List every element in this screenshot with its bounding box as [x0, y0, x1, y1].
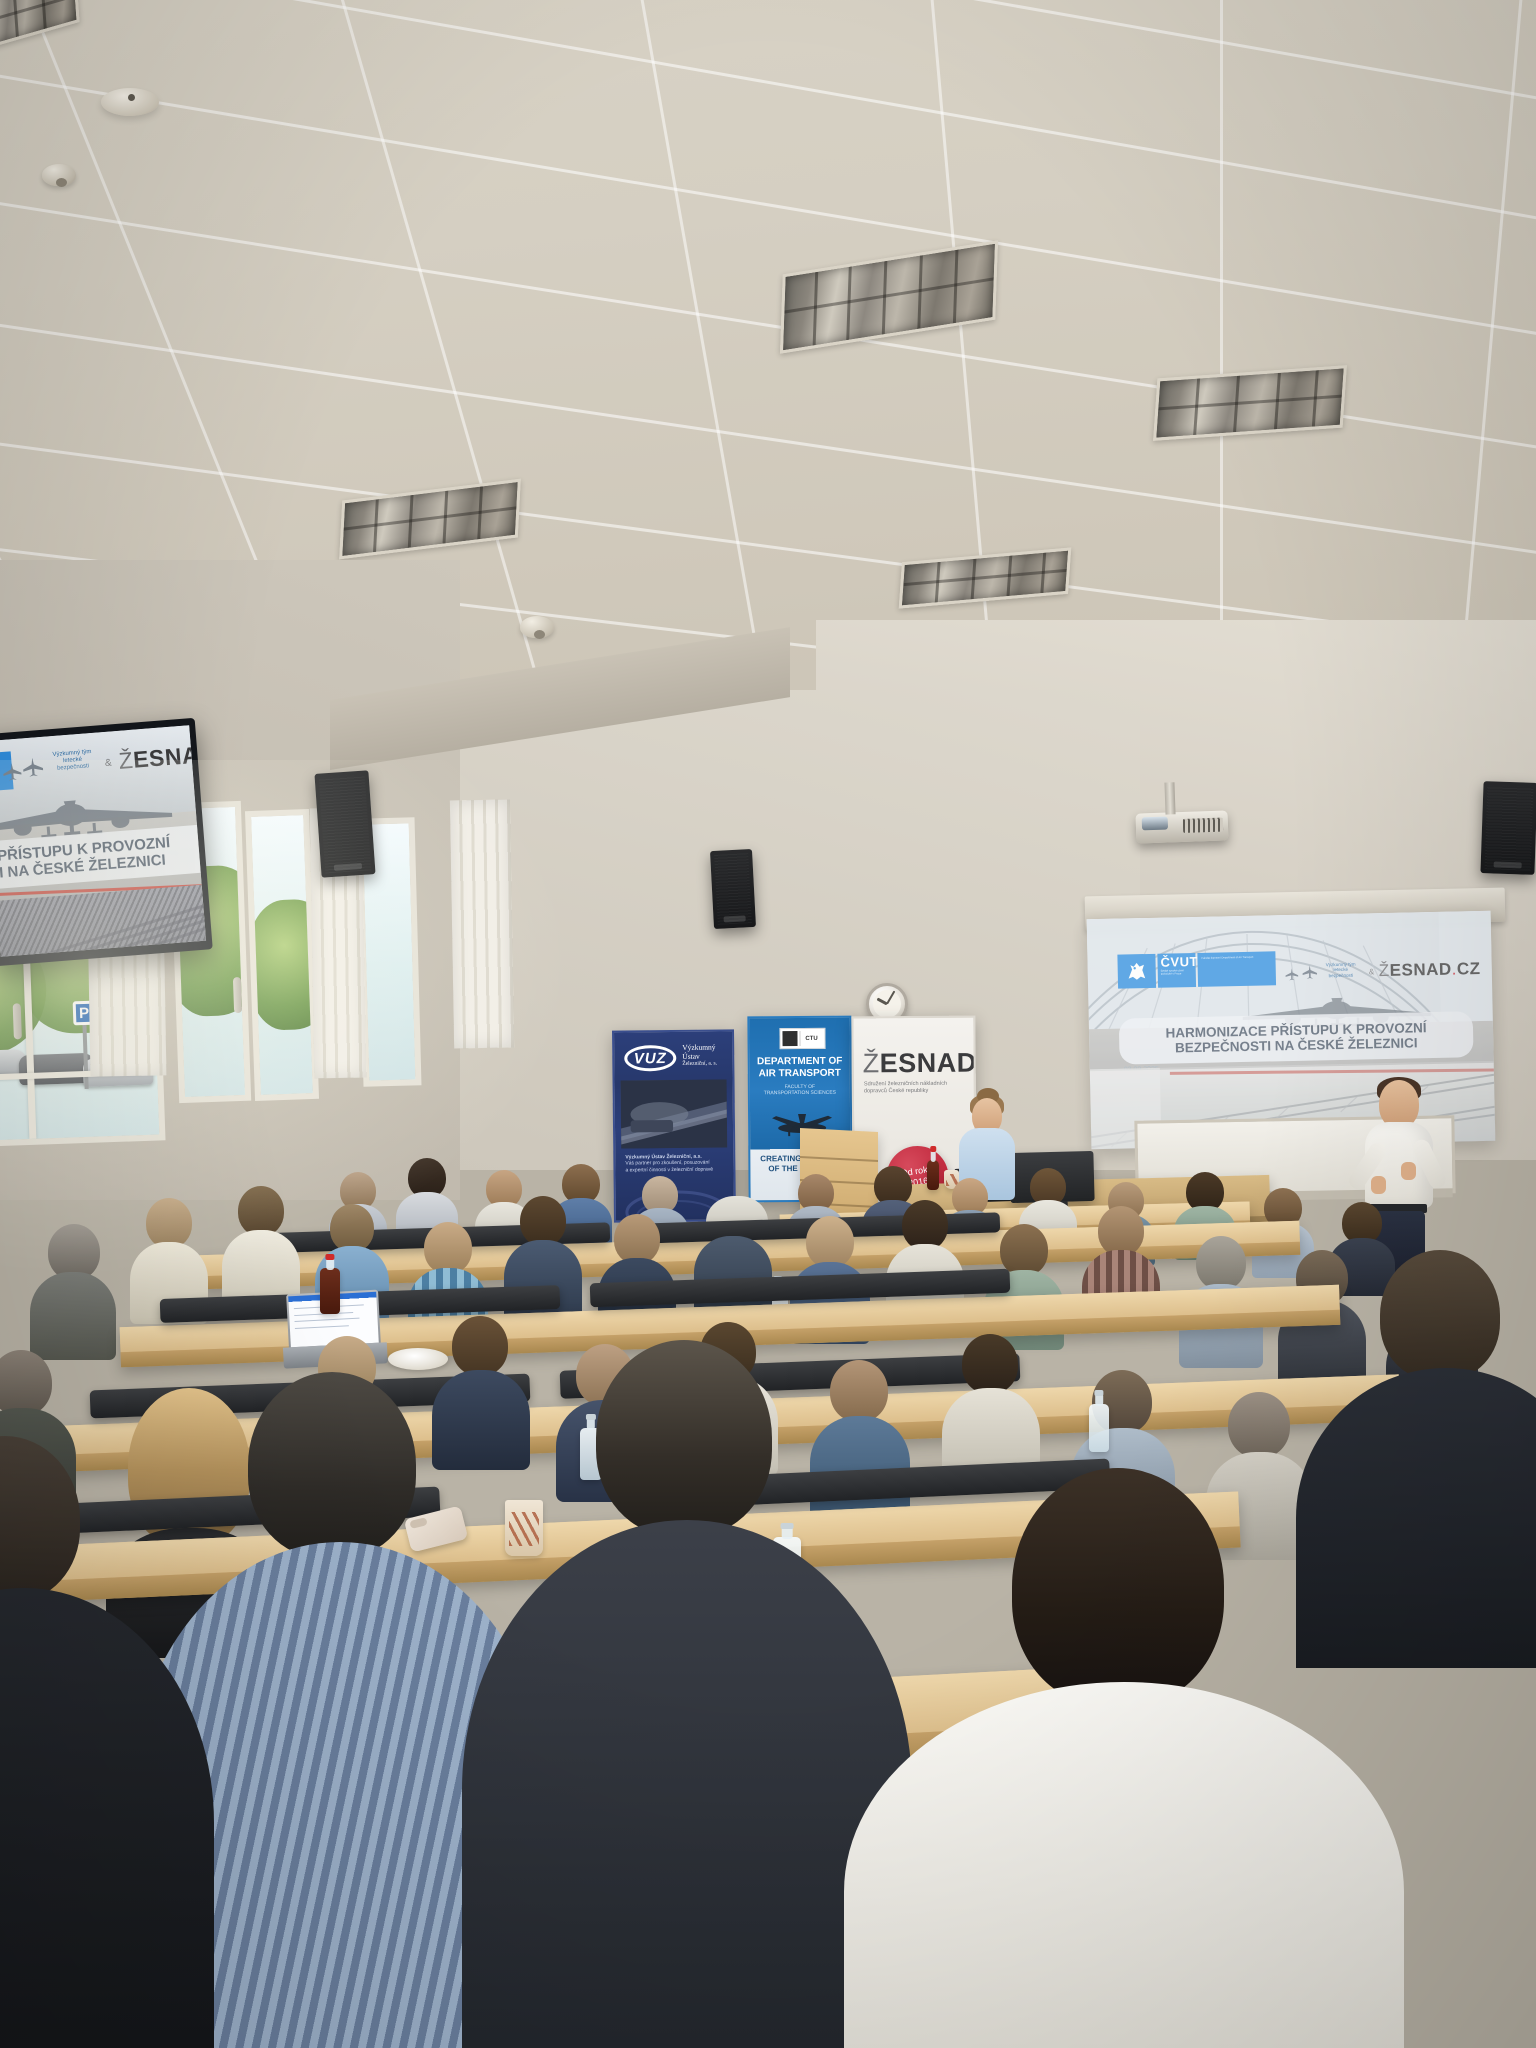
cvut-wordmark: ČVUT [1160, 955, 1192, 969]
zesnad-banner-esnad: ESNAD [880, 1048, 977, 1079]
zesnad-z: Ž [1379, 961, 1390, 980]
zesnad-esnad: ESNAD [1389, 960, 1451, 980]
phone-camera-icon [409, 1517, 428, 1529]
slide-title-band: HARMONIZACE PŘÍSTUPU K PROVOZNÍ BEZPEČNO… [1119, 1011, 1474, 1064]
vertical-blinds-far-right [450, 799, 514, 1048]
zesnad-subtitle: Sdružení železničních nákladních dopravc… [864, 1081, 968, 1096]
research-team-label: Výzkumný tým letecké bezpečnosti [1318, 961, 1364, 978]
lecture-hall-photo: P [0, 0, 1536, 2048]
cvut-lion-logo [1117, 954, 1156, 989]
vuz-name-line-3: Železniční, a. s. [682, 1061, 717, 1068]
water-bottle [1089, 1404, 1109, 1452]
sprinkler-head-icon [520, 616, 554, 638]
wall-mounted-tv: Výzkumný tým letecké bezpečnosti & ŽESNA… [0, 718, 213, 966]
small-airplane-icon [1302, 963, 1318, 979]
lion-icon [1123, 959, 1149, 984]
small-airplane-icon [1, 761, 23, 783]
tv-slide: Výzkumný tým letecké bezpečnosti & ŽESNA… [0, 725, 206, 956]
smoke-detector-icon [101, 88, 159, 116]
small-airplane-icon [1285, 967, 1299, 981]
wall-speaker-center [710, 849, 756, 929]
team-line-3: bezpečnosti [1318, 972, 1364, 978]
ceiling-projector [1136, 810, 1229, 843]
presenter-head [1379, 1080, 1419, 1128]
vuz-logo: VUZ [624, 1045, 676, 1072]
window-center-b [245, 809, 319, 1101]
ctu-wordmark: CTU [799, 1031, 822, 1046]
ampersand-label: & [104, 757, 112, 768]
wall-speaker-right [1480, 781, 1536, 875]
air-transport-subtitle: FACULTY OF TRANSPORTATION SCIENCES [754, 1084, 846, 1097]
dat-sub-line-2: TRANSPORTATION SCIENCES [754, 1090, 846, 1097]
projector-lens-icon [1142, 816, 1168, 830]
projector-vents-icon [1183, 818, 1223, 833]
zesnad-cz: CZ [1457, 959, 1481, 978]
lion-icon [782, 1031, 797, 1046]
vuz-name: Výzkumný Ústav Železniční, a. s. [682, 1044, 717, 1068]
dat-title-line-2: AIR TRANSPORT [754, 1067, 846, 1079]
small-airplane-icon [21, 755, 45, 779]
paper-coffee-cup [505, 1500, 543, 1556]
air-transport-title: DEPARTMENT OF AIR TRANSPORT [754, 1056, 846, 1080]
wall-speaker-left [314, 770, 375, 878]
zesnad-esnad: ESNAD [132, 740, 206, 772]
ampersand-label: & [1369, 967, 1375, 976]
cvut-subtitle-1: České vysoké učení technické v Praze [1161, 970, 1193, 977]
zesnad-sub-line-2: dopravců České republiky [864, 1088, 968, 1096]
dat-title-line-1: DEPARTMENT OF [754, 1056, 846, 1068]
tv-screen: Výzkumný tým letecké bezpečnosti & ŽESNA… [0, 725, 206, 956]
sprinkler-head-icon [42, 164, 76, 186]
zesnad-banner-logo: ŽESNAD.CZ [863, 1049, 977, 1077]
cvut-subtitle-2: Fakulta dopravní Department of Air Trans… [1201, 956, 1253, 983]
cvut-name-box: ČVUT České vysoké učení technické v Praz… [1157, 953, 1196, 988]
zesnad-banner-z: Ž [863, 1048, 880, 1078]
ctu-logo-box: CTU [779, 1028, 825, 1049]
cvut-faculty-box: Fakulta dopravní Department of Air Trans… [1197, 951, 1276, 987]
vuz-banner-photo [621, 1079, 728, 1148]
zesnad-logo: ŽESNAD.CZ [1379, 960, 1481, 979]
